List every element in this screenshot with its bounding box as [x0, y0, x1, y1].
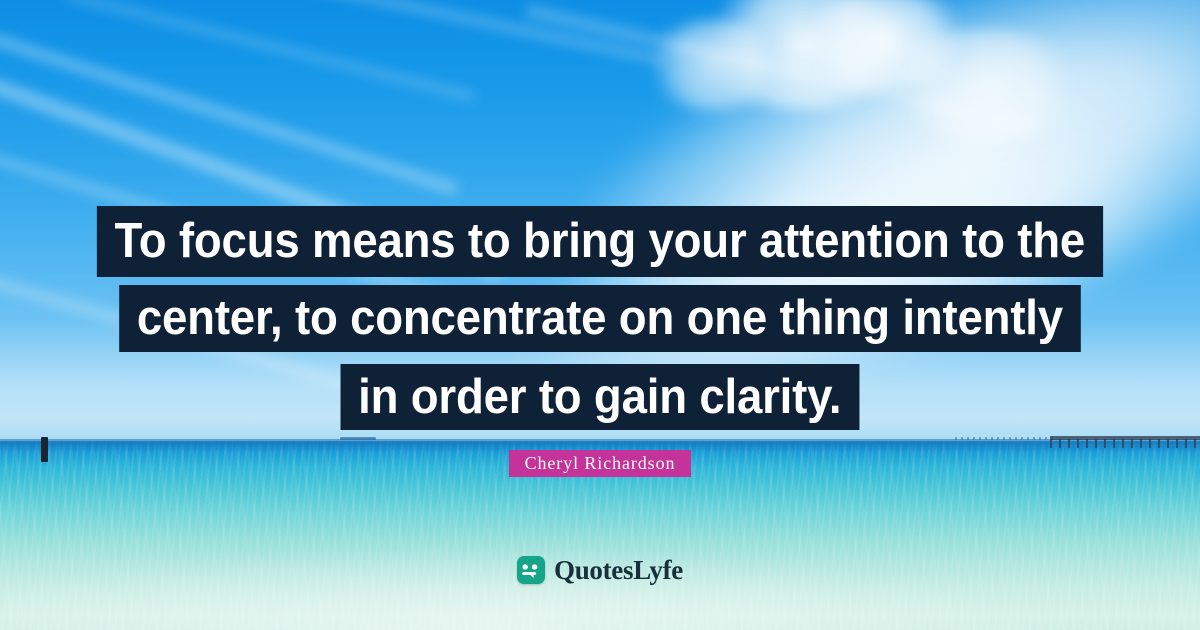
quote-marks-icon	[517, 556, 545, 584]
distant-islet	[340, 437, 376, 440]
author-attribution: Cheryl Richardson	[0, 450, 1200, 477]
quote-line-3: in order to gain clarity.	[341, 364, 860, 430]
quote-text-block: To focus means to bring your attention t…	[0, 206, 1200, 430]
brand-name: QuotesLyfe	[554, 556, 683, 584]
author-name-badge: Cheryl Richardson	[509, 450, 692, 477]
quote-card: To focus means to bring your attention t…	[0, 0, 1200, 630]
cirrus-cloud-streak	[65, 0, 475, 103]
cirrus-cloud-streak	[0, 9, 459, 197]
quote-line-1: To focus means to bring your attention t…	[97, 206, 1103, 277]
quote-line-2: center, to concentrate on one thing inte…	[119, 285, 1080, 352]
cloud-puff	[880, 30, 1090, 140]
pier-pilings	[1050, 439, 1200, 448]
cloud-puff	[640, 20, 790, 110]
brand-logo[interactable]: QuotesLyfe	[0, 556, 1200, 584]
distant-pier	[955, 437, 1055, 440]
